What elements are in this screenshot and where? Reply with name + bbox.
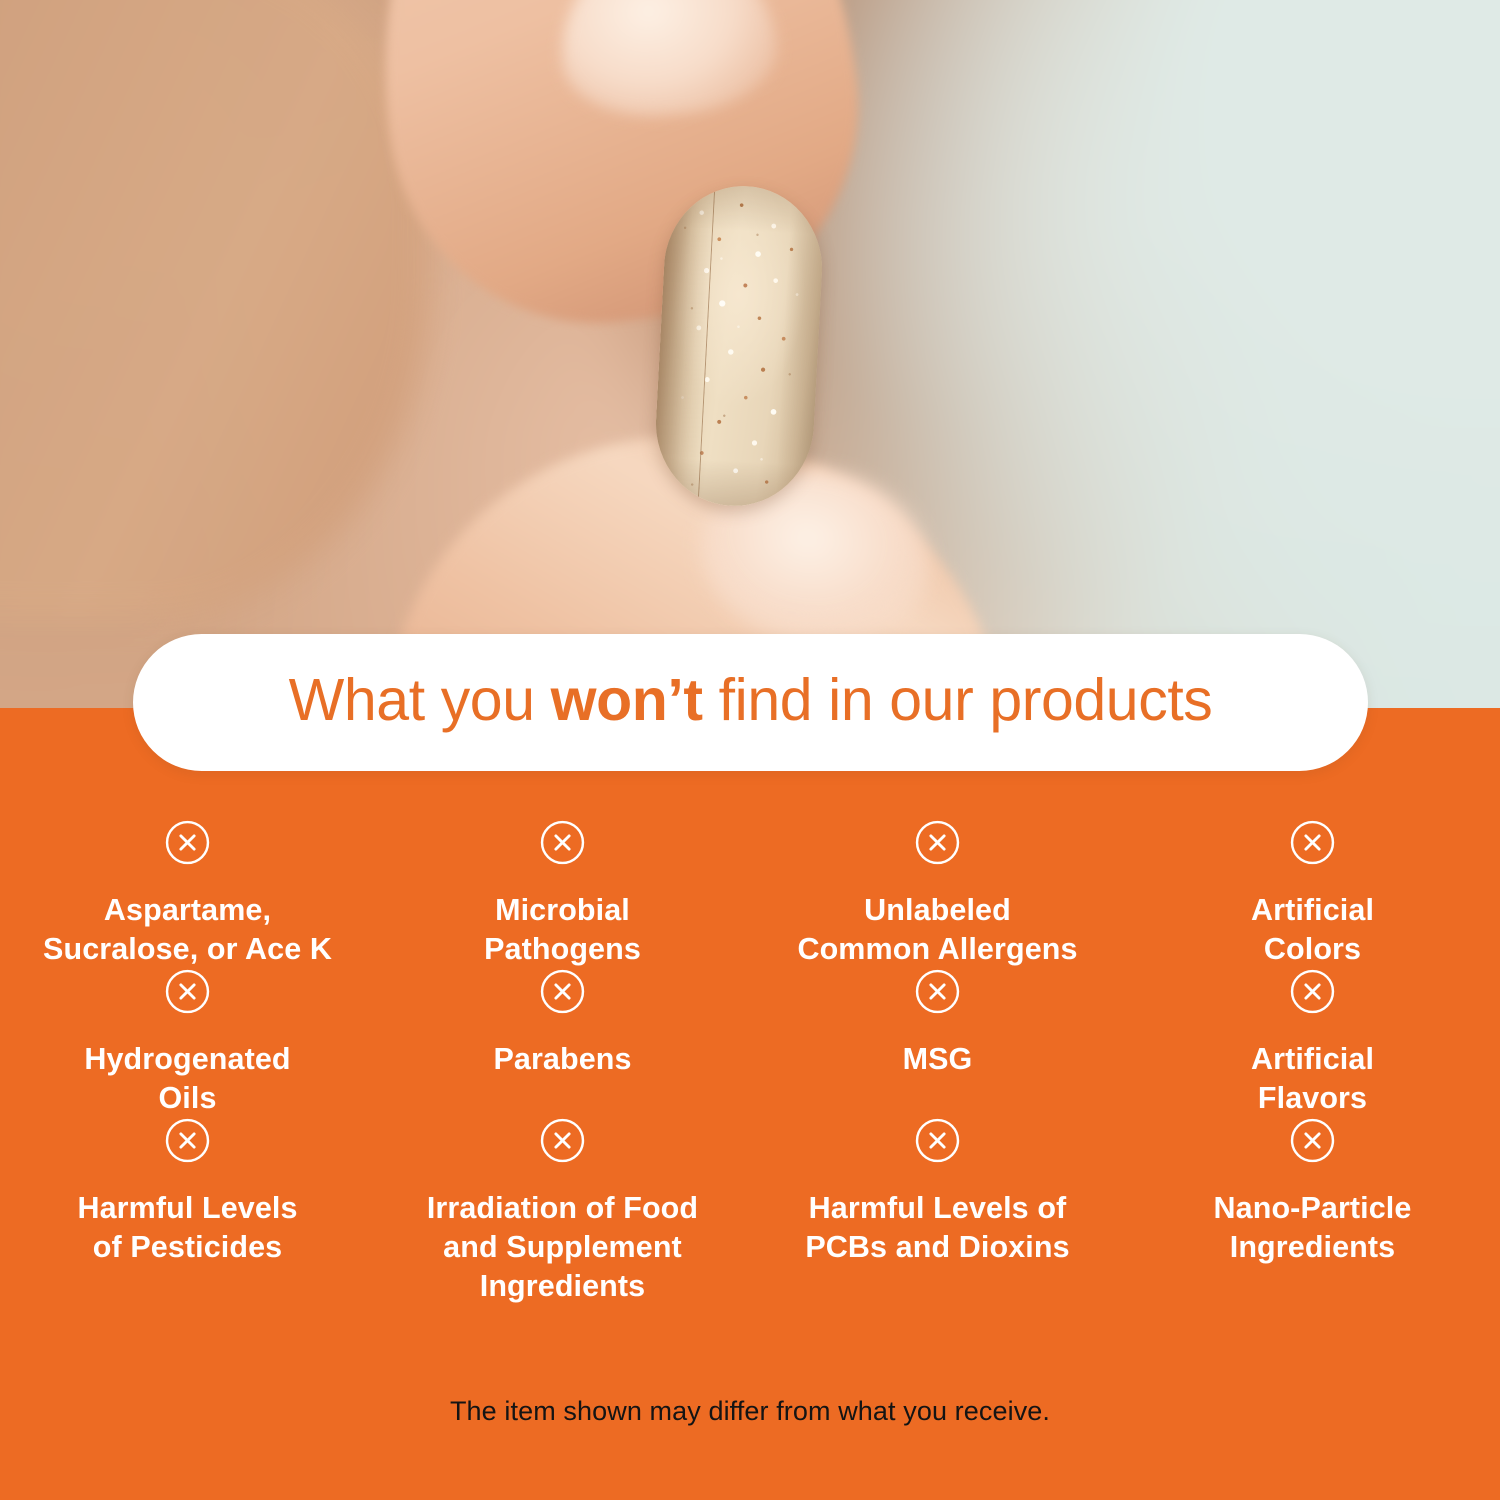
tablet-shading (652, 182, 827, 510)
exclusion-label: MSG (903, 1040, 973, 1079)
product-photo (0, 0, 1500, 712)
circle-x-icon (540, 969, 585, 1014)
exclusion-item: Unlabeled Common Allergens (750, 820, 1125, 969)
exclusions-grid: Aspartame, Sucralose, or Ace K Microbial… (0, 820, 1500, 1306)
exclusion-item: Harmful Levels of Pesticides (0, 1118, 375, 1306)
exclusion-label: Harmful Levels of PCBs and Dioxins (805, 1189, 1069, 1267)
headline-suffix: find in our products (703, 667, 1213, 733)
circle-x-icon (165, 820, 210, 865)
product-claims-poster: What you won’t find in our products Aspa… (0, 0, 1500, 1500)
headline-card: What you won’t find in our products (133, 634, 1368, 771)
circle-x-icon (540, 1118, 585, 1163)
exclusion-label: Artificial Colors (1251, 891, 1374, 969)
headline-emphasis: won’t (551, 667, 703, 733)
exclusion-label: Nano-Particle Ingredients (1214, 1189, 1412, 1267)
circle-x-icon (1290, 1118, 1335, 1163)
circle-x-icon (915, 1118, 960, 1163)
exclusion-label: Irradiation of Food and Supplement Ingre… (427, 1189, 698, 1306)
exclusion-item: Irradiation of Food and Supplement Ingre… (375, 1118, 750, 1306)
headline-prefix: What you (289, 667, 551, 733)
page-title: What you won’t find in our products (289, 671, 1213, 734)
disclaimer-text: The item shown may differ from what you … (0, 1396, 1500, 1427)
circle-x-icon (1290, 820, 1335, 865)
supplement-tablet (652, 182, 827, 510)
exclusion-item: Microbial Pathogens (375, 820, 750, 969)
exclusion-label: Hydrogenated Oils (84, 1040, 290, 1118)
exclusion-item: Nano-Particle Ingredients (1125, 1118, 1500, 1306)
exclusion-item: Parabens (375, 969, 750, 1118)
exclusion-label: Parabens (493, 1040, 631, 1079)
exclusion-item: Aspartame, Sucralose, or Ace K (0, 820, 375, 969)
circle-x-icon (540, 820, 585, 865)
exclusion-label: Aspartame, Sucralose, or Ace K (43, 891, 332, 969)
circle-x-icon (915, 969, 960, 1014)
exclusion-item: Artificial Colors (1125, 820, 1500, 969)
exclusion-item: Harmful Levels of PCBs and Dioxins (750, 1118, 1125, 1306)
exclusion-label: Unlabeled Common Allergens (797, 891, 1077, 969)
circle-x-icon (1290, 969, 1335, 1014)
exclusion-label: Microbial Pathogens (484, 891, 641, 969)
exclusion-item: Artificial Flavors (1125, 969, 1500, 1118)
exclusion-item: Hydrogenated Oils (0, 969, 375, 1118)
exclusion-label: Harmful Levels of Pesticides (77, 1189, 297, 1267)
exclusion-label: Artificial Flavors (1251, 1040, 1374, 1118)
exclusion-item: MSG (750, 969, 1125, 1118)
circle-x-icon (915, 820, 960, 865)
circle-x-icon (165, 969, 210, 1014)
circle-x-icon (165, 1118, 210, 1163)
